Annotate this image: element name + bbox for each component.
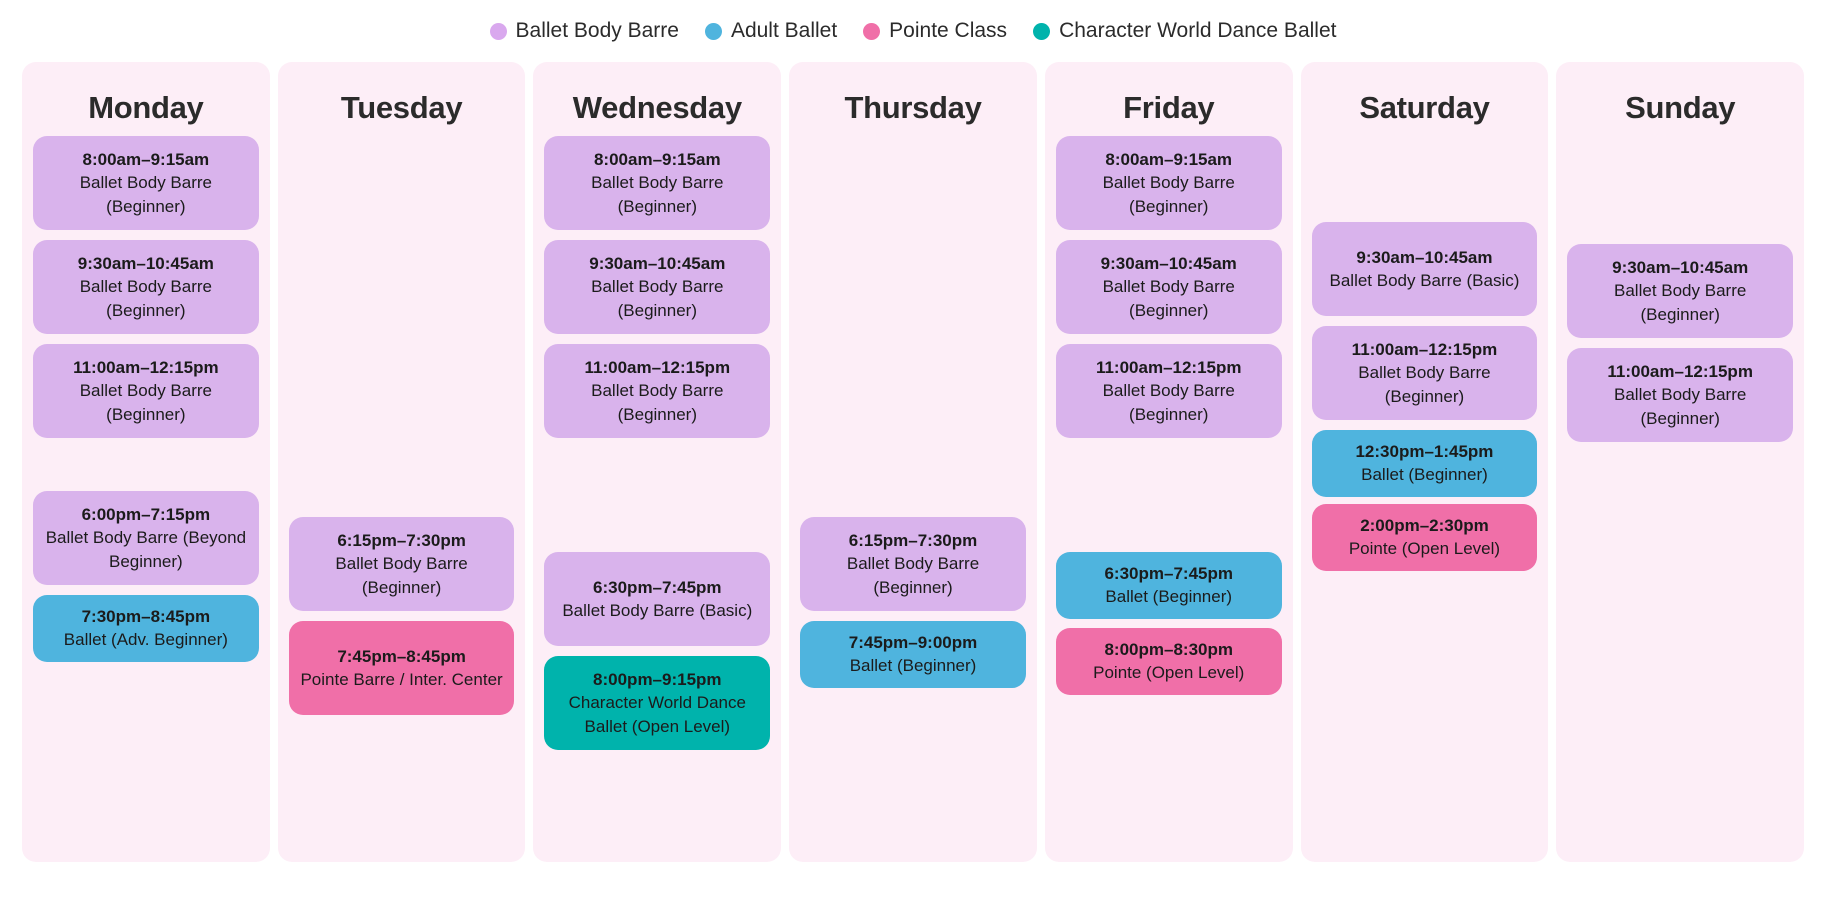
event-name: Ballet (Beginner) (1320, 463, 1530, 486)
day-column-sunday: Sunday9:30am–10:45amBallet Body Barre (B… (1556, 62, 1804, 862)
day-column-saturday: Saturday9:30am–10:45amBallet Body Barre … (1301, 62, 1549, 862)
event-time: 6:15pm–7:30pm (808, 529, 1018, 552)
weekly-schedule-board: Monday8:00am–9:15amBallet Body Barre (Be… (0, 62, 1826, 862)
class-event-card[interactable]: 6:15pm–7:30pmBallet Body Barre (Beginner… (800, 517, 1026, 611)
class-event-card[interactable]: 11:00am–12:15pmBallet Body Barre (Beginn… (1567, 348, 1793, 442)
legend-item[interactable]: Character World Dance Ballet (1033, 19, 1336, 43)
class-event-card[interactable]: 8:00pm–8:30pmPointe (Open Level) (1056, 628, 1282, 695)
event-name: Ballet Body Barre (Basic) (552, 599, 762, 622)
event-time: 11:00am–12:15pm (41, 356, 251, 379)
day-events-container: 9:30am–10:45amBallet Body Barre (Beginne… (1567, 136, 1793, 836)
day-events-container: 6:15pm–7:30pmBallet Body Barre (Beginner… (289, 136, 515, 836)
event-time: 6:30pm–7:45pm (552, 576, 762, 599)
day-title: Wednesday (533, 62, 781, 126)
event-name: Ballet Body Barre (Beginner) (1575, 383, 1785, 430)
class-event-card[interactable]: 11:00am–12:15pmBallet Body Barre (Beginn… (544, 344, 770, 438)
legend-color-dot-icon (863, 23, 880, 40)
class-event-card[interactable]: 6:30pm–7:45pmBallet (Beginner) (1056, 552, 1282, 619)
day-column-tuesday: Tuesday6:15pm–7:30pmBallet Body Barre (B… (278, 62, 526, 862)
event-time: 11:00am–12:15pm (552, 356, 762, 379)
event-name: Ballet Body Barre (Beginner) (1320, 361, 1530, 408)
legend-item-label: Ballet Body Barre (516, 19, 679, 43)
class-event-card[interactable]: 2:00pm–2:30pmPointe (Open Level) (1312, 504, 1538, 571)
day-events-container: 8:00am–9:15amBallet Body Barre (Beginner… (1056, 136, 1282, 836)
legend-color-dot-icon (705, 23, 722, 40)
event-time: 7:45pm–9:00pm (808, 631, 1018, 654)
class-event-card[interactable]: 9:30am–10:45amBallet Body Barre (Beginne… (33, 240, 259, 334)
event-time: 11:00am–12:15pm (1320, 338, 1530, 361)
day-title: Thursday (789, 62, 1037, 126)
event-name: Ballet Body Barre (Basic) (1320, 269, 1530, 292)
event-name: Ballet Body Barre (Beginner) (1575, 279, 1785, 326)
day-events-container: 8:00am–9:15amBallet Body Barre (Beginner… (544, 136, 770, 836)
event-time: 11:00am–12:15pm (1064, 356, 1274, 379)
class-event-card[interactable]: 11:00am–12:15pmBallet Body Barre (Beginn… (1312, 326, 1538, 420)
day-title: Monday (22, 62, 270, 126)
day-events-container: 9:30am–10:45amBallet Body Barre (Basic)1… (1312, 136, 1538, 836)
event-name: Ballet Body Barre (Beginner) (1064, 275, 1274, 322)
event-name: Ballet Body Barre (Beginner) (552, 275, 762, 322)
legend: Ballet Body BarreAdult BalletPointe Clas… (0, 0, 1826, 62)
class-event-card[interactable]: 8:00am–9:15amBallet Body Barre (Beginner… (1056, 136, 1282, 230)
event-name: Ballet Body Barre (Beginner) (552, 379, 762, 426)
legend-color-dot-icon (1033, 23, 1050, 40)
day-column-thursday: Thursday6:15pm–7:30pmBallet Body Barre (… (789, 62, 1037, 862)
event-name: Ballet Body Barre (Beginner) (41, 275, 251, 322)
class-event-card[interactable]: 6:30pm–7:45pmBallet Body Barre (Basic) (544, 552, 770, 646)
class-event-card[interactable]: 6:00pm–7:15pmBallet Body Barre (Beyond B… (33, 491, 259, 585)
event-name: Ballet (Beginner) (1064, 585, 1274, 608)
day-events-container: 8:00am–9:15amBallet Body Barre (Beginner… (33, 136, 259, 836)
event-time: 9:30am–10:45am (1575, 256, 1785, 279)
legend-item[interactable]: Adult Ballet (705, 19, 837, 43)
event-name: Ballet Body Barre (Beginner) (297, 552, 507, 599)
event-name: Ballet Body Barre (Beginner) (552, 171, 762, 218)
class-event-card[interactable]: 9:30am–10:45amBallet Body Barre (Basic) (1312, 222, 1538, 316)
event-name: Ballet Body Barre (Beginner) (41, 379, 251, 426)
event-name: Ballet (Beginner) (808, 654, 1018, 677)
event-time: 6:30pm–7:45pm (1064, 562, 1274, 585)
class-event-card[interactable]: 9:30am–10:45amBallet Body Barre (Beginne… (544, 240, 770, 334)
event-time: 8:00pm–9:15pm (552, 668, 762, 691)
event-name: Pointe Barre / Inter. Center (297, 668, 507, 691)
class-event-card[interactable]: 11:00am–12:15pmBallet Body Barre (Beginn… (1056, 344, 1282, 438)
class-event-card[interactable]: 12:30pm–1:45pmBallet (Beginner) (1312, 430, 1538, 497)
event-name: Ballet Body Barre (Beginner) (41, 171, 251, 218)
event-time: 11:00am–12:15pm (1575, 360, 1785, 383)
class-event-card[interactable]: 7:45pm–9:00pmBallet (Beginner) (800, 621, 1026, 688)
class-event-card[interactable]: 8:00am–9:15amBallet Body Barre (Beginner… (544, 136, 770, 230)
event-time: 6:00pm–7:15pm (41, 503, 251, 526)
event-time: 8:00am–9:15am (552, 148, 762, 171)
legend-item-label: Adult Ballet (731, 19, 837, 43)
legend-item-label: Character World Dance Ballet (1059, 19, 1336, 43)
class-event-card[interactable]: 8:00pm–9:15pmCharacter World Dance Balle… (544, 656, 770, 750)
day-events-container: 6:15pm–7:30pmBallet Body Barre (Beginner… (800, 136, 1026, 836)
day-title: Sunday (1556, 62, 1804, 126)
class-event-card[interactable]: 7:45pm–8:45pmPointe Barre / Inter. Cente… (289, 621, 515, 715)
day-title: Tuesday (278, 62, 526, 126)
event-name: Pointe (Open Level) (1320, 537, 1530, 560)
event-time: 8:00pm–8:30pm (1064, 638, 1274, 661)
event-name: Character World Dance Ballet (Open Level… (552, 691, 762, 738)
class-event-card[interactable]: 8:00am–9:15amBallet Body Barre (Beginner… (33, 136, 259, 230)
event-time: 6:15pm–7:30pm (297, 529, 507, 552)
class-event-card[interactable]: 11:00am–12:15pmBallet Body Barre (Beginn… (33, 344, 259, 438)
event-name: Ballet Body Barre (Beyond Beginner) (41, 526, 251, 573)
day-column-monday: Monday8:00am–9:15amBallet Body Barre (Be… (22, 62, 270, 862)
event-name: Pointe (Open Level) (1064, 661, 1274, 684)
day-column-wednesday: Wednesday8:00am–9:15amBallet Body Barre … (533, 62, 781, 862)
class-event-card[interactable]: 6:15pm–7:30pmBallet Body Barre (Beginner… (289, 517, 515, 611)
class-event-card[interactable]: 9:30am–10:45amBallet Body Barre (Beginne… (1567, 244, 1793, 338)
event-time: 2:00pm–2:30pm (1320, 514, 1530, 537)
event-time: 9:30am–10:45am (552, 252, 762, 275)
legend-item[interactable]: Ballet Body Barre (490, 19, 679, 43)
event-time: 8:00am–9:15am (41, 148, 251, 171)
event-name: Ballet Body Barre (Beginner) (808, 552, 1018, 599)
event-time: 7:30pm–8:45pm (41, 605, 251, 628)
event-time: 9:30am–10:45am (41, 252, 251, 275)
legend-item-label: Pointe Class (889, 19, 1007, 43)
event-time: 9:30am–10:45am (1320, 246, 1530, 269)
event-name: Ballet Body Barre (Beginner) (1064, 171, 1274, 218)
event-time: 9:30am–10:45am (1064, 252, 1274, 275)
event-name: Ballet Body Barre (Beginner) (1064, 379, 1274, 426)
event-time: 12:30pm–1:45pm (1320, 440, 1530, 463)
day-column-friday: Friday8:00am–9:15amBallet Body Barre (Be… (1045, 62, 1293, 862)
event-time: 8:00am–9:15am (1064, 148, 1274, 171)
legend-color-dot-icon (490, 23, 507, 40)
day-title: Saturday (1301, 62, 1549, 126)
event-name: Ballet (Adv. Beginner) (41, 628, 251, 651)
day-title: Friday (1045, 62, 1293, 126)
legend-item[interactable]: Pointe Class (863, 19, 1007, 43)
class-event-card[interactable]: 7:30pm–8:45pmBallet (Adv. Beginner) (33, 595, 259, 662)
event-time: 7:45pm–8:45pm (297, 645, 507, 668)
class-event-card[interactable]: 9:30am–10:45amBallet Body Barre (Beginne… (1056, 240, 1282, 334)
